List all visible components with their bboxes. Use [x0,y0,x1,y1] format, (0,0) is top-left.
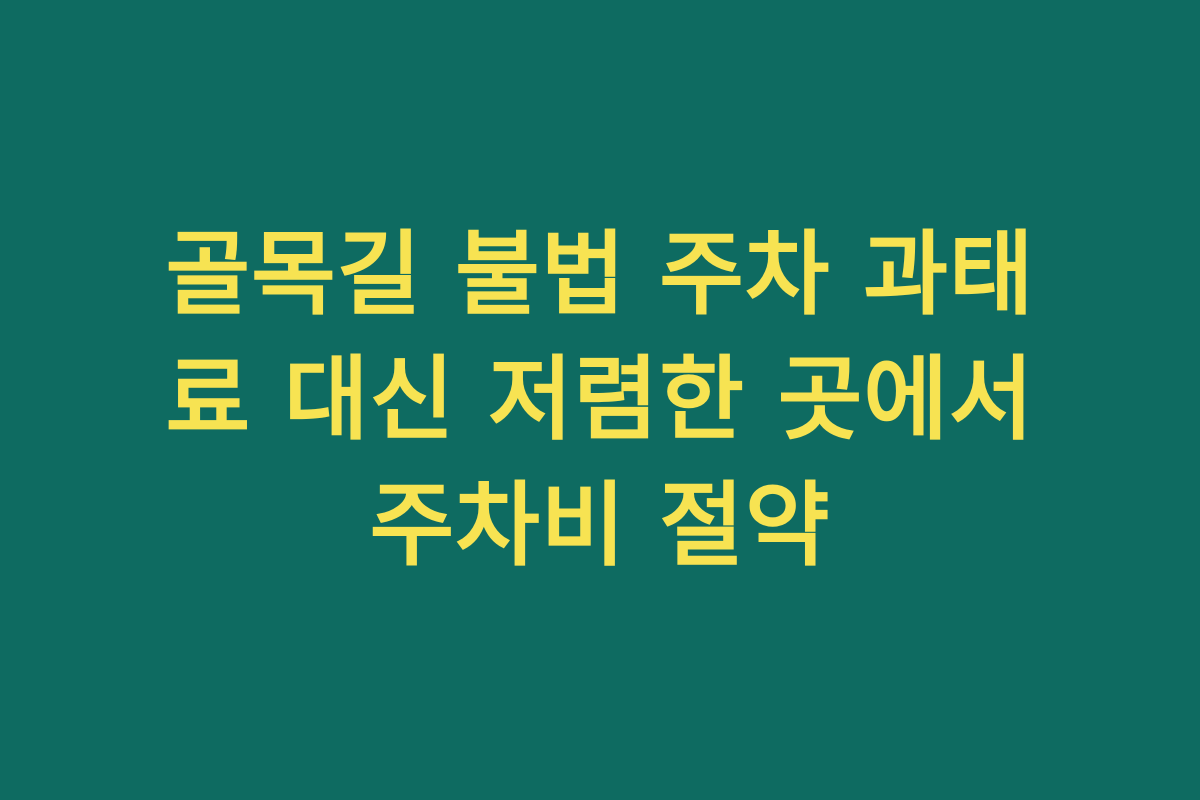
page-title: 골목길 불법 주차 과태 료 대신 저렴한 곳에서 주차비 절약 [100,212,1100,587]
poster-canvas: 골목길 불법 주차 과태 료 대신 저렴한 곳에서 주차비 절약 [0,0,1200,800]
headline-line-3: 주차비 절약 [100,463,1100,588]
headline-line-1: 골목길 불법 주차 과태 [100,212,1100,337]
headline-line-2: 료 대신 저렴한 곳에서 [100,337,1100,462]
